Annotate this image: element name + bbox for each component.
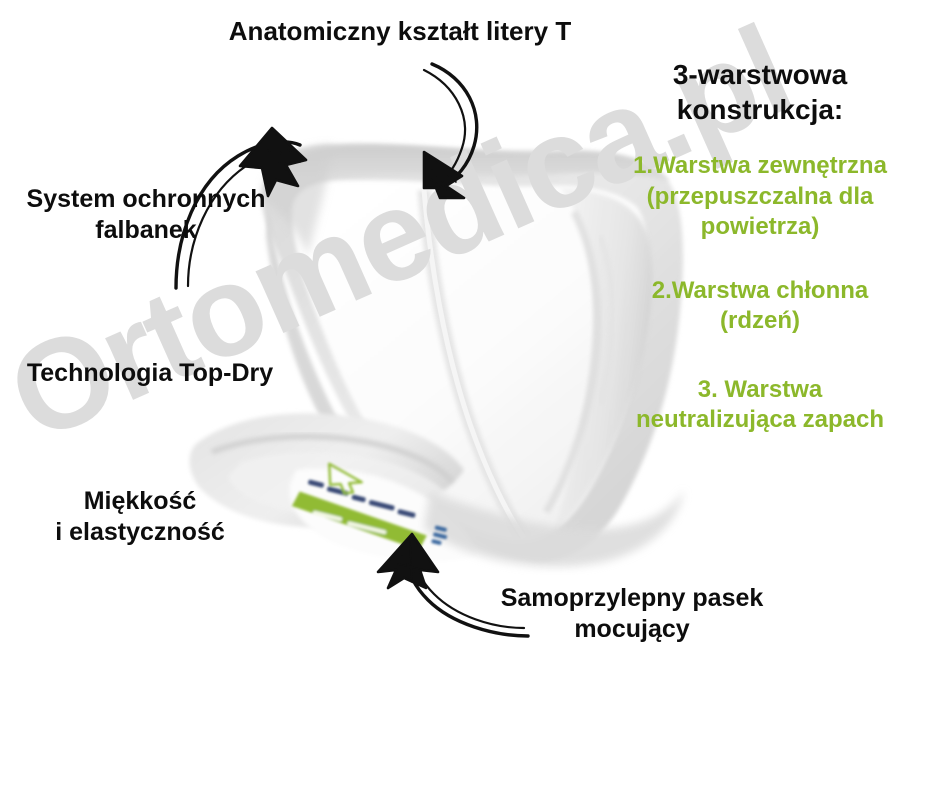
label-protective-ruffles: System ochronnych falbanek [0,184,292,245]
layers-panel-title: 3-warstwowa konstrukcja: [586,58,934,127]
arrow-to-anatomical-icon [424,64,477,198]
label-softness-elasticity: Miękkość i elastyczność [0,486,280,547]
layer-item-3: 3. Warstwa neutralizująca zapach [586,375,934,435]
layer-item-2: 2.Warstwa chłonna (rdzeń) [586,276,934,336]
layers-panel: 3-warstwowa konstrukcja: 1.Warstwa zewnę… [586,58,934,435]
infographic-canvas: Ortomedica.pl [0,0,940,788]
label-adhesive-tape: Samoprzylepny pasek mocujący [452,583,812,644]
label-topdry-technology: Technologia Top-Dry [0,358,300,389]
layer-item-1: 1.Warstwa zewnętrzna (przepuszczalna dla… [586,151,934,242]
product-brand-label [289,458,457,556]
label-anatomical-shape: Anatomiczny kształt litery T [180,16,620,48]
